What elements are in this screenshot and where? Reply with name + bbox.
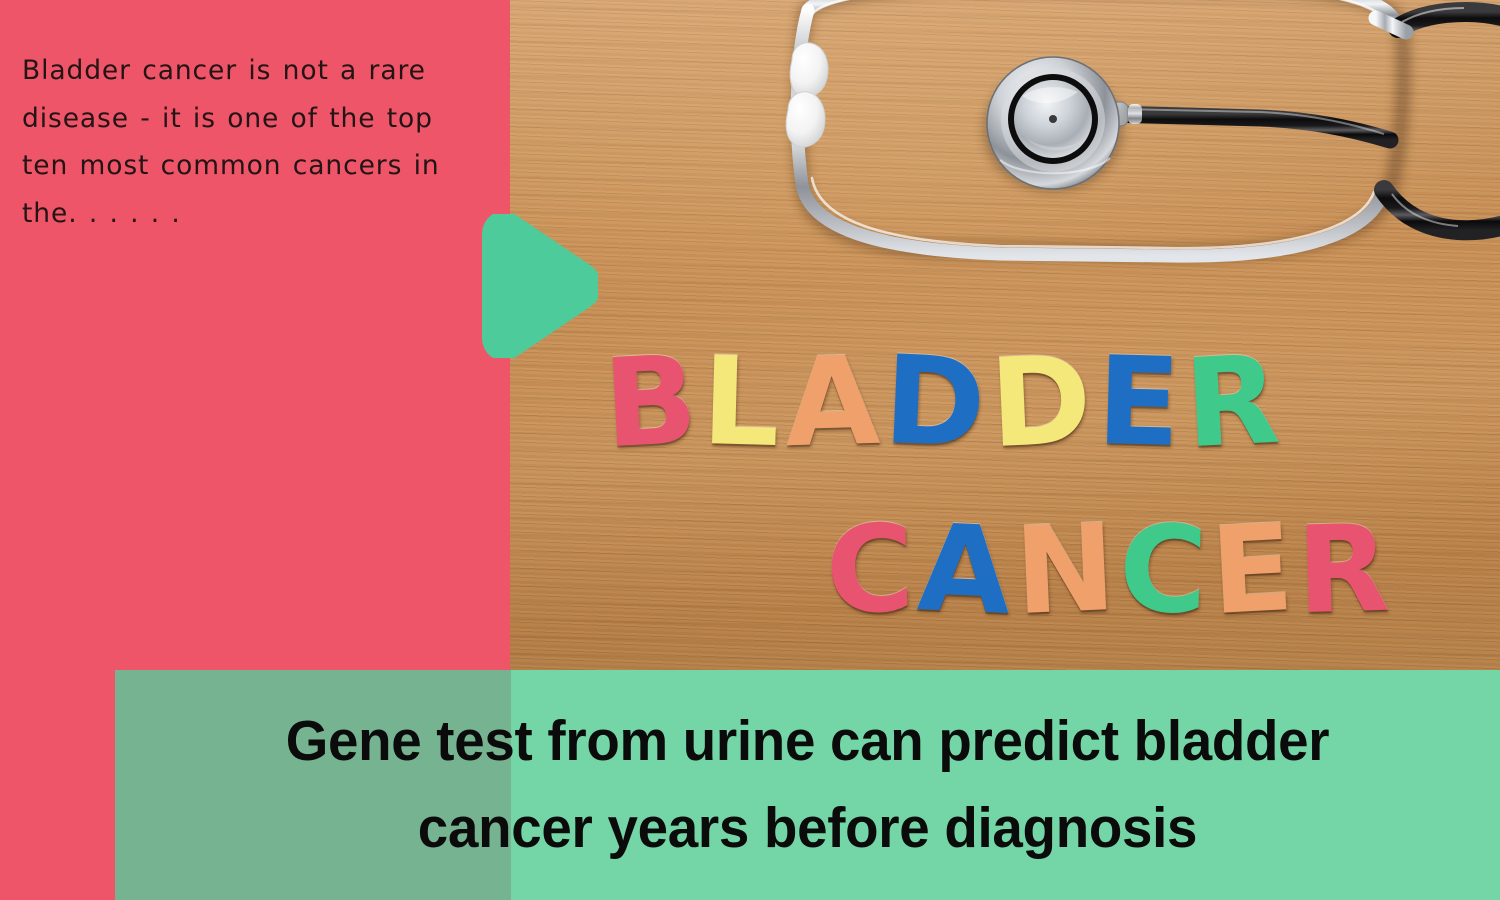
foam-letter: L <box>701 351 780 453</box>
foam-letter: A <box>916 520 1012 622</box>
foam-letter: A <box>783 351 879 453</box>
foam-letter: E <box>1209 520 1295 622</box>
headline-text: Gene test from urine can predict bladder… <box>143 670 1473 900</box>
foam-letter: R <box>1183 350 1281 455</box>
foam-letter: D <box>988 350 1093 454</box>
foam-letter: C <box>1118 521 1208 622</box>
headline-banner: Gene test from urine can predict bladder… <box>115 670 1500 900</box>
play-button[interactable] <box>462 214 598 358</box>
play-triangle-icon <box>490 219 594 353</box>
foam-letter: N <box>1013 520 1117 623</box>
foam-letter: E <box>1095 351 1180 453</box>
summary-text: Bladder cancer is not a rare disease - i… <box>22 47 486 238</box>
foam-letter: D <box>882 350 987 454</box>
foam-letter: B <box>601 350 698 455</box>
foam-letters-bladder: B L A D D E R <box>604 352 1278 452</box>
stethoscope-icon <box>700 0 1500 298</box>
foam-letters-cancer: C A N C E R <box>826 522 1389 620</box>
foam-letter: C <box>825 521 915 622</box>
foam-letter: R <box>1296 521 1390 622</box>
article-thumbnail-card: B L A D D E R C A N C E R Bladder cancer… <box>0 0 1500 900</box>
